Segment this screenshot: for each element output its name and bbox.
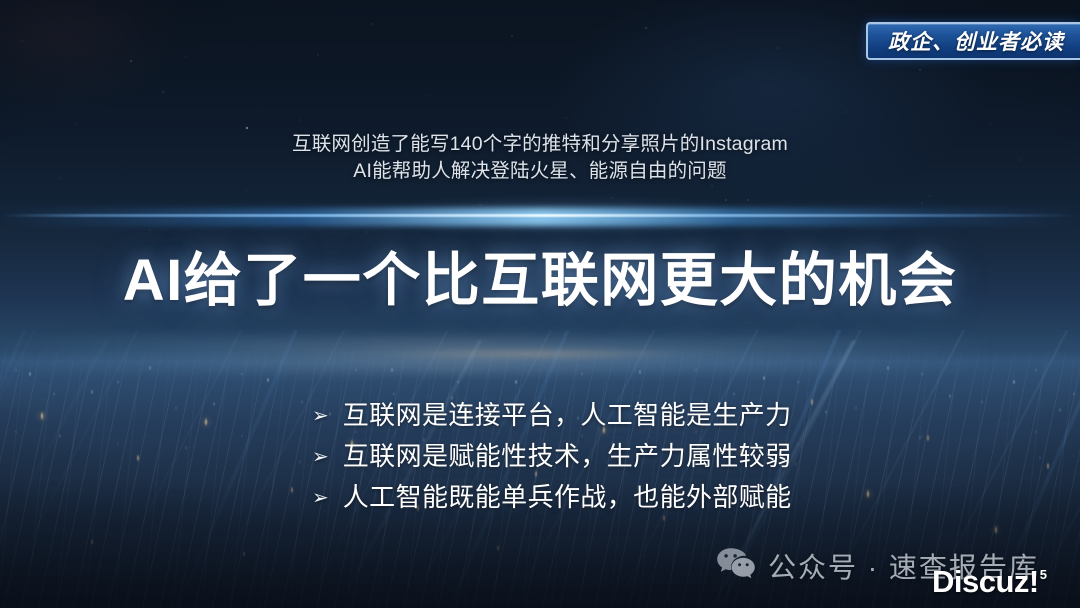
discuz-logo-name: Discuz! (932, 566, 1039, 597)
list-item: ➢ 互联网是赋能性技术，生产力属性较弱 (312, 439, 872, 480)
presentation-slide: 政企、创业者必读 互联网创造了能写140个字的推特和分享照片的Instagram… (0, 0, 1080, 608)
arrow-bullet-icon: ➢ (312, 406, 329, 426)
wechat-icon (716, 547, 756, 586)
discuz-logo: Discuz! 5 (932, 566, 1047, 597)
bullet-text: 互联网是连接平台，人工智能是生产力 (343, 398, 792, 432)
light-streak (0, 208, 1080, 226)
subtitle-line-1: 互联网创造了能写140个字的推特和分享照片的Instagram (0, 131, 1080, 158)
list-item: ➢ 人工智能既能单兵作战，也能外部赋能 (312, 480, 872, 521)
subtitle-line-2: AI能帮助人解决登陆火星、能源自由的问题 (0, 158, 1080, 185)
arrow-bullet-icon: ➢ (312, 488, 329, 508)
light-streak-core (0, 214, 1080, 217)
slide-headline: AI给了一个比互联网更大的机会 (0, 248, 1080, 314)
bullet-text: 互联网是赋能性技术，生产力属性较弱 (343, 439, 792, 473)
bullet-list: ➢ 互联网是连接平台，人工智能是生产力 ➢ 互联网是赋能性技术，生产力属性较弱 … (312, 398, 872, 521)
arrow-bullet-icon: ➢ (312, 447, 329, 467)
bullet-text: 人工智能既能单兵作战，也能外部赋能 (343, 480, 792, 514)
subtitle-block: 互联网创造了能写140个字的推特和分享照片的Instagram AI能帮助人解决… (0, 131, 1080, 185)
must-read-badge: 政企、创业者必读 (866, 22, 1080, 60)
must-read-badge-label: 政企、创业者必读 (888, 26, 1064, 56)
list-item: ➢ 互联网是连接平台，人工智能是生产力 (312, 398, 872, 439)
discuz-logo-version: 5 (1040, 568, 1047, 581)
